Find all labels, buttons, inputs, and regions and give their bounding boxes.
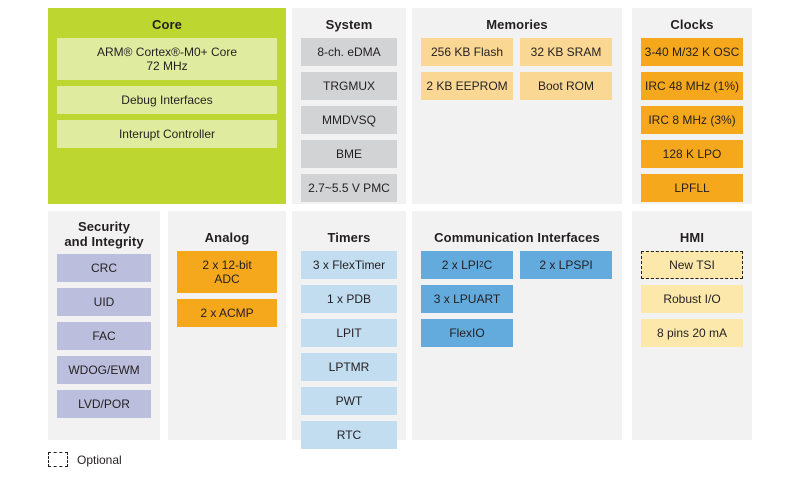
panel-clocks: Clocks 3-40 M/32 K OSC IRC 48 MHz (1%) I…	[632, 8, 752, 204]
panel-body-core: ARM® Cortex®-M0+ Core72 MHz Debug Interf…	[48, 32, 286, 156]
panel-hmi: HMI New TSI Robust I/O 8 pins 20 mA	[632, 211, 752, 440]
block-robust-io[interactable]: Robust I/O	[641, 285, 743, 313]
panel-title-timers: Timers	[292, 211, 406, 245]
block-lpspi[interactable]: 2 x LPSPI	[520, 251, 612, 279]
block-pdb[interactable]: 1 x PDB	[301, 285, 397, 313]
block-trgmux[interactable]: TRGMUX	[301, 72, 397, 100]
block-wdog-ewm[interactable]: WDOG/EWM	[57, 356, 151, 384]
block-flash[interactable]: 256 KB Flash	[421, 38, 513, 66]
block-edma[interactable]: 8-ch. eDMA	[301, 38, 397, 66]
block-irc-8mhz[interactable]: IRC 8 MHz (3%)	[641, 106, 743, 134]
block-adc[interactable]: 2 x 12-bitADC	[177, 251, 277, 293]
panel-communication-interfaces: Communication Interfaces 2 x LPI2C 2 x L…	[412, 211, 622, 440]
block-rtc[interactable]: RTC	[301, 421, 397, 449]
block-osc[interactable]: 3-40 M/32 K OSC	[641, 38, 743, 66]
panel-title-communication: Communication Interfaces	[412, 211, 622, 245]
panel-analog: Analog 2 x 12-bitADC 2 x ACMP	[168, 211, 286, 440]
block-lpo[interactable]: 128 K LPO	[641, 140, 743, 168]
spacer-cell	[520, 285, 612, 313]
panel-body-analog: 2 x 12-bitADC 2 x ACMP	[168, 245, 286, 335]
panel-title-hmi: HMI	[632, 211, 752, 245]
panel-timers: Timers 3 x FlexTimer 1 x PDB LPIT LPTMR …	[292, 211, 406, 440]
dashed-square-icon	[48, 452, 68, 467]
block-8-pins-20ma[interactable]: 8 pins 20 mA	[641, 319, 743, 347]
panel-body-hmi: New TSI Robust I/O 8 pins 20 mA	[632, 245, 752, 355]
block-pmc[interactable]: 2.7~5.5 V PMC	[301, 174, 397, 202]
panel-body-memories: 256 KB Flash 32 KB SRAM 2 KB EEPROM Boot…	[412, 32, 622, 108]
panel-system: System 8-ch. eDMA TRGMUX MMDVSQ BME 2.7~…	[292, 8, 406, 204]
panel-title-core: Core	[48, 8, 286, 32]
legend: Optional	[48, 452, 122, 467]
block-mmdvsq[interactable]: MMDVSQ	[301, 106, 397, 134]
panel-memories: Memories 256 KB Flash 32 KB SRAM 2 KB EE…	[412, 8, 622, 204]
block-irc-48mhz[interactable]: IRC 48 MHz (1%)	[641, 72, 743, 100]
panel-body-communication: 2 x LPI2C 2 x LPSPI 3 x LPUART FlexIO	[412, 245, 622, 355]
block-interrupt-controller[interactable]: Interupt Controller	[57, 120, 277, 148]
block-lpit[interactable]: LPIT	[301, 319, 397, 347]
block-fac[interactable]: FAC	[57, 322, 151, 350]
block-new-tsi[interactable]: New TSI	[641, 251, 743, 279]
block-lpuart[interactable]: 3 x LPUART	[421, 285, 513, 313]
block-acmp[interactable]: 2 x ACMP	[177, 299, 277, 327]
block-eeprom[interactable]: 2 KB EEPROM	[421, 72, 513, 100]
panel-title-memories: Memories	[412, 8, 622, 32]
block-lvd-por[interactable]: LVD/POR	[57, 390, 151, 418]
panel-body-security: CRC UID FAC WDOG/EWM LVD/POR	[48, 249, 160, 426]
panel-security-and-integrity: Securityand Integrity CRC UID FAC WDOG/E…	[48, 211, 160, 440]
panel-title-system: System	[292, 8, 406, 32]
block-lptmr[interactable]: LPTMR	[301, 353, 397, 381]
block-boot-rom[interactable]: Boot ROM	[520, 72, 612, 100]
panel-core: Core ARM® Cortex®-M0+ Core72 MHz Debug I…	[48, 8, 286, 204]
legend-label-optional: Optional	[77, 453, 122, 467]
block-sram[interactable]: 32 KB SRAM	[520, 38, 612, 66]
block-bme[interactable]: BME	[301, 140, 397, 168]
panel-title-analog: Analog	[168, 211, 286, 245]
block-debug-interfaces[interactable]: Debug Interfaces	[57, 86, 277, 114]
block-lpfll[interactable]: LPFLL	[641, 174, 743, 202]
panel-body-clocks: 3-40 M/32 K OSC IRC 48 MHz (1%) IRC 8 MH…	[632, 32, 752, 210]
block-diagram: Core ARM® Cortex®-M0+ Core72 MHz Debug I…	[0, 0, 800, 480]
block-arm-core[interactable]: ARM® Cortex®-M0+ Core72 MHz	[57, 38, 277, 80]
block-lpi2c[interactable]: 2 x LPI2C	[421, 251, 513, 279]
block-uid[interactable]: UID	[57, 288, 151, 316]
block-crc[interactable]: CRC	[57, 254, 151, 282]
block-flextimer[interactable]: 3 x FlexTimer	[301, 251, 397, 279]
panel-body-timers: 3 x FlexTimer 1 x PDB LPIT LPTMR PWT RTC	[292, 245, 406, 457]
panel-body-system: 8-ch. eDMA TRGMUX MMDVSQ BME 2.7~5.5 V P…	[292, 32, 406, 210]
panel-title-security: Securityand Integrity	[48, 211, 160, 249]
block-flexio[interactable]: FlexIO	[421, 319, 513, 347]
block-pwt[interactable]: PWT	[301, 387, 397, 415]
panel-title-clocks: Clocks	[632, 8, 752, 32]
